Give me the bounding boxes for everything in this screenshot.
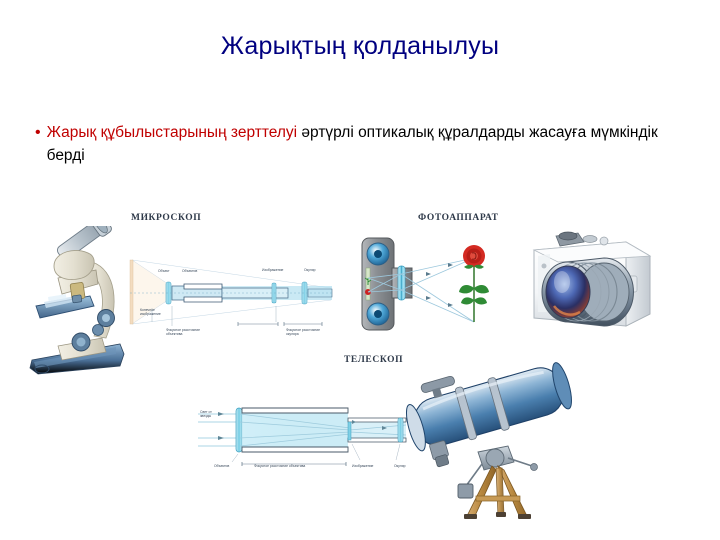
- microscope-label-eyepiece: Окуляр: [304, 268, 315, 272]
- microscope-label-objective-focus: Фокусное расстояние объектива: [166, 328, 200, 336]
- telescope-label-starlight: Свет от звезды: [200, 410, 220, 418]
- microscope-ray-diagram: Объект Объектив Изображение Окуляр Конеч…: [126, 248, 336, 353]
- telescope-label-objective-focus: Фокусное расстояние объектива: [254, 464, 305, 468]
- bullet-highlight-text: Жарық құбылыстарының зерттелуі: [47, 124, 298, 141]
- microscope-label-image: Изображение: [262, 268, 283, 272]
- camera-ray-diagram: [356, 230, 511, 345]
- slide-canvas: Жарықтың қолданылуы • Жарық құбылыстарын…: [0, 0, 720, 540]
- digital-camera-illustration: [500, 222, 660, 347]
- telescope-ray-diagram: Свет от звезды Объектив Фокусное расстоя…: [192, 392, 422, 482]
- bullet-text: Жарық құбылыстарының зерттелуі әртүрлі о…: [47, 122, 681, 167]
- page-title: Жарықтың қолданылуы: [40, 33, 680, 61]
- microscope-label-objective: Объектив: [182, 269, 197, 273]
- telescope-caption: ТЕЛЕСКОП: [344, 355, 403, 365]
- camera-caption: ФОТОАППАРАТ: [418, 213, 499, 223]
- bullet-list-item: • Жарық құбылыстарының зерттелуі әртүрлі…: [33, 122, 681, 167]
- content-body: • Жарық құбылыстарының зерттелуі әртүрлі…: [33, 122, 681, 167]
- microscope-label-eyepiece-focus: Фокусное расстояние окуляра: [286, 328, 322, 336]
- telescope-label-image: Изображение: [352, 464, 373, 468]
- microscope-illustration: [24, 226, 134, 376]
- microscope-caption: МИКРОСКОП: [131, 213, 201, 223]
- reflector-telescope-illustration: [400, 360, 580, 522]
- microscope-label-final-image: Конечное изображение: [140, 308, 174, 316]
- microscope-label-object: Объект: [158, 269, 170, 273]
- telescope-label-objective: Объектив: [214, 464, 229, 468]
- bullet-marker-icon: •: [33, 122, 41, 144]
- optical-instruments-figure: МИКРОСКОП: [22, 196, 658, 526]
